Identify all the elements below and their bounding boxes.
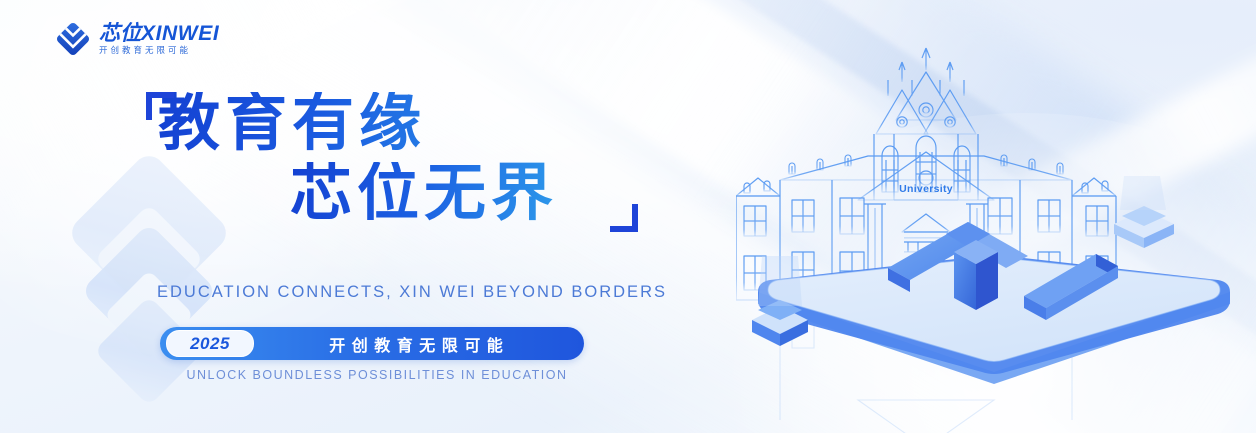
building-label: University [899, 183, 953, 195]
university-illustration: University [736, 0, 1256, 433]
slogan-label: 开创教育无限可能 [254, 332, 584, 356]
brand-text-block: 芯位XINWEI 开创教育无限可能 [99, 23, 219, 55]
xinwei-chevron-diamond-logo-icon [56, 22, 90, 56]
headline-line-2: 芯位无界 [290, 162, 620, 226]
floating-isometric-cube-icon [1114, 176, 1174, 248]
year-badge: 2025 [166, 330, 254, 357]
brand-logo[interactable]: 芯位XINWEI 开创教育无限可能 [56, 22, 219, 56]
promo-banner: 芯位XINWEI 开创教育无限可能 教育有缘 芯位无界 EDUCATION CO… [0, 0, 1256, 433]
brand-name-en: XINWEI [141, 22, 219, 45]
hero-headline: 教育有缘 芯位无界 [150, 92, 620, 226]
brand-name: 芯位XINWEI [99, 23, 219, 44]
slogan-pill-bar: 2025 开创教育无限可能 [160, 327, 584, 360]
brand-name-cn: 芯位 [99, 22, 141, 45]
hero-subtitle-en: EDUCATION CONNECTS, XIN WEI BEYOND BORDE… [157, 283, 597, 302]
hero-footnote-en: UNLOCK BOUNDLESS POSSIBILITIES IN EDUCAT… [157, 368, 597, 382]
brand-tagline: 开创教育无限可能 [99, 46, 219, 55]
headline-line-1: 教育有缘 [158, 92, 620, 156]
year-badge-label: 2025 [190, 334, 230, 354]
corner-bracket-top-left-icon [146, 92, 174, 120]
corner-bracket-bottom-right-icon [610, 204, 638, 232]
